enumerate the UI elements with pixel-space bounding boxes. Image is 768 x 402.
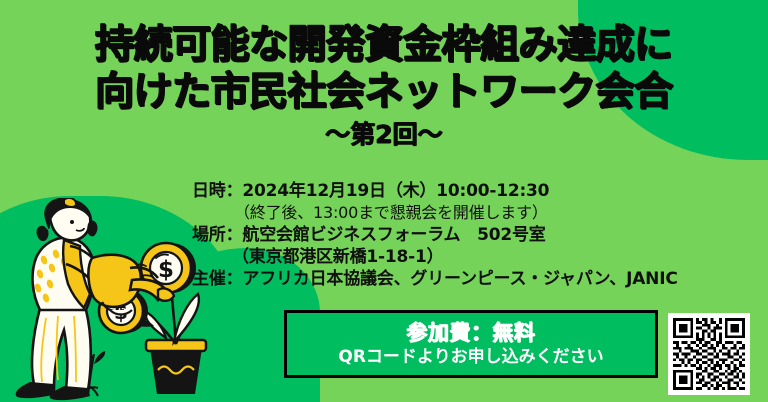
qr-code-icon[interactable] (673, 318, 745, 390)
poster-title-block: 持続可能な開発資金枠組み達成に 向けた市民社会ネットワーク会合 〜第2回〜 (0, 22, 768, 150)
title-line-2: 向けた市民社会ネットワーク会合 (0, 69, 768, 116)
person-illustration (16, 198, 174, 400)
detail-venue-address: （東京都港区新橋1-18-1） (192, 246, 758, 268)
detail-datetime-note: （終了後、13:00まで懇親会を開催します） (192, 202, 758, 224)
event-poster: $ $ (0, 0, 768, 402)
title-subtitle: 〜第2回〜 (0, 120, 768, 150)
event-details: 日時：2024年12月19日（木）10:00-12:30 （終了後、13:00ま… (192, 180, 758, 290)
title-line-1: 持続可能な開発資金枠組み達成に (0, 22, 768, 69)
cta-instruction-label: QRコードよりお申し込みください (338, 346, 603, 368)
detail-datetime: 日時：2024年12月19日（木）10:00-12:30 (192, 180, 758, 202)
svg-text:$: $ (158, 257, 174, 283)
qr-code-container[interactable] (668, 313, 750, 395)
cta-fee-label: 参加費：無料 (407, 320, 536, 346)
registration-cta-box: 参加費：無料 QRコードよりお申し込みください (284, 310, 658, 378)
person-watering-money-plant-illustration: $ $ (6, 198, 222, 402)
detail-venue: 場所：航空会館ビジネスフォーラム 502号室 (192, 224, 758, 246)
detail-organizers: 主催：アフリカ日本協議会、グリーンピース・ジャパン、JANIC (192, 268, 758, 290)
